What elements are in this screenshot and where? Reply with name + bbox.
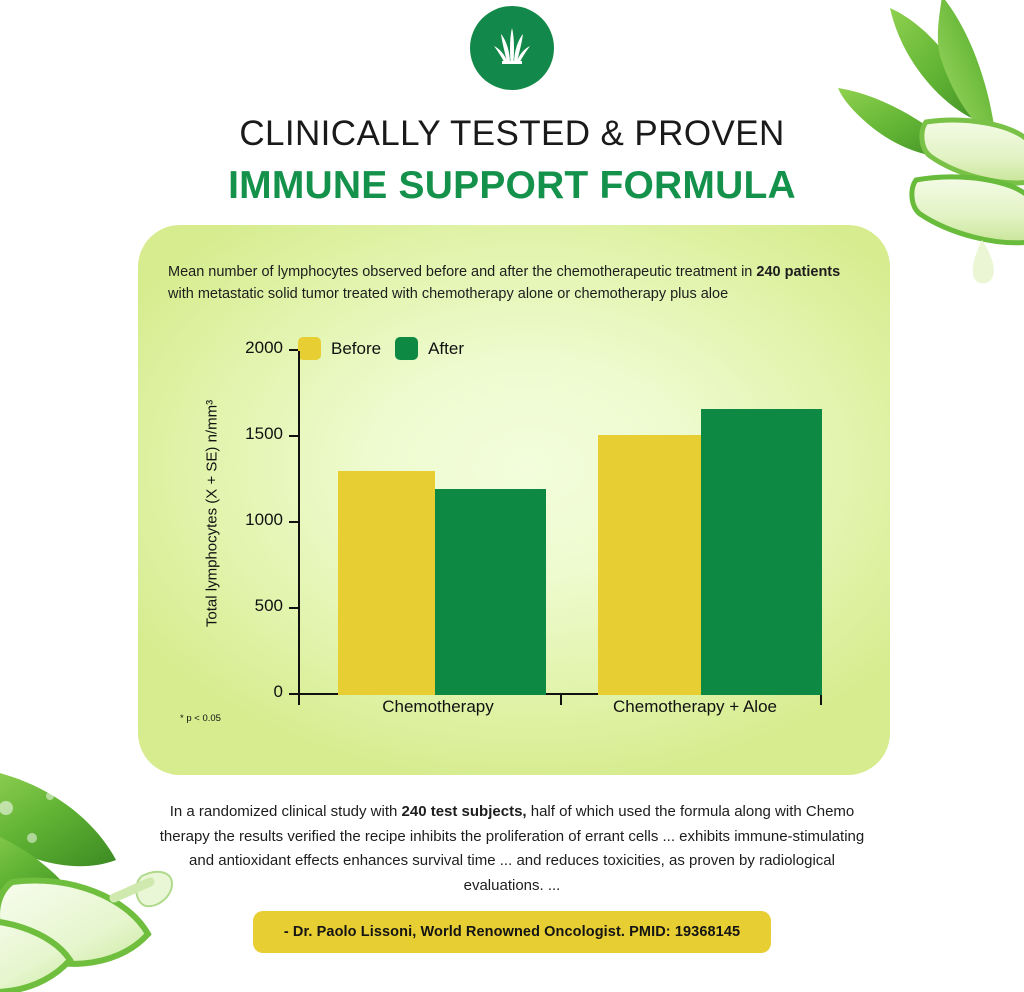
x-axis-label-chemotherapy: Chemotherapy — [318, 697, 558, 717]
aloe-plant-icon — [488, 24, 536, 72]
citation-text: - Dr. Paolo Lissoni, World Renowned Onco… — [284, 924, 740, 940]
page-title-line1: CLINICALLY TESTED & PROVEN — [0, 112, 1024, 156]
y-tick-label-1500: 1500 — [245, 424, 283, 444]
x-axis-group-divider-tick — [560, 695, 562, 705]
caption-text-1: Mean number of lymphocytes observed befo… — [168, 264, 756, 280]
caption-text-2: with metastatic solid tumor treated with… — [168, 286, 728, 302]
y-axis-line — [298, 351, 300, 695]
y-tick-1500: 1500 — [289, 435, 298, 437]
chart-panel: Mean number of lymphocytes observed befo… — [138, 225, 890, 775]
p-value-footnote: * p < 0.05 — [180, 713, 221, 724]
y-tick-label-0: 0 — [274, 682, 283, 702]
study-summary-text: In a randomized clinical study with 240 … — [150, 800, 874, 898]
page-title-block: CLINICALLY TESTED & PROVEN IMMUNE SUPPOR… — [0, 112, 1024, 212]
y-tick-label-500: 500 — [255, 596, 283, 616]
bar-chemotherapy-before — [338, 471, 435, 695]
bar-chemotherapy-aloe-after — [701, 409, 822, 695]
y-tick-1000: 1000 — [289, 521, 298, 523]
x-axis-cap-right — [820, 695, 822, 705]
bar-chemotherapy-after — [435, 489, 546, 695]
y-tick-2000: 2000 — [289, 349, 298, 351]
infographic-page: CLINICALLY TESTED & PROVEN IMMUNE SUPPOR… — [0, 0, 1024, 992]
page-title-line2: IMMUNE SUPPORT FORMULA — [0, 160, 1024, 212]
chart-plot-area: 0 500 1000 1500 2000 Chemotherapy Chemot… — [298, 351, 822, 695]
y-tick-label-2000: 2000 — [245, 338, 283, 358]
citation-banner: - Dr. Paolo Lissoni, World Renowned Onco… — [253, 911, 771, 953]
bar-chemotherapy-aloe-before — [598, 435, 701, 695]
y-tick-0: 0 — [289, 693, 298, 695]
y-tick-500: 500 — [289, 607, 298, 609]
brand-logo-badge — [470, 6, 554, 90]
caption-highlight-patients: 240 patients — [756, 264, 840, 280]
x-axis-cap-left — [298, 695, 300, 705]
summary-text-1: In a randomized clinical study with — [170, 803, 402, 820]
summary-highlight-subjects: 240 test subjects, — [402, 803, 527, 820]
y-tick-label-1000: 1000 — [245, 510, 283, 530]
chart-caption: Mean number of lymphocytes observed befo… — [168, 261, 864, 305]
x-axis-label-chemotherapy-aloe: Chemotherapy + Aloe — [570, 697, 820, 717]
y-axis-title: Total lymphocytes (X + SE) n/mm³ — [204, 364, 221, 664]
lymphocyte-bar-chart: Total lymphocytes (X + SE) n/mm³ Before … — [138, 333, 890, 753]
